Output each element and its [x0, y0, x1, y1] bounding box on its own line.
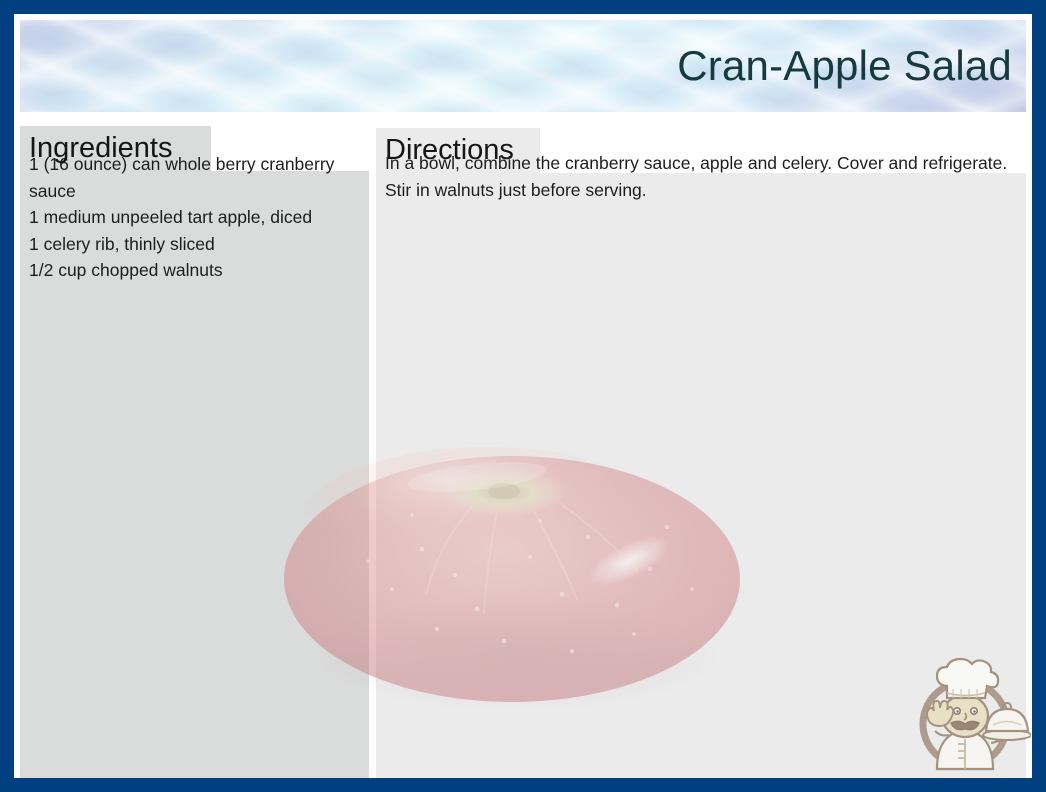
ingredients-panel: Ingredients 1 (16 ounce) can whole berry… — [20, 126, 369, 778]
recipe-slide: Cran-Apple Salad Ingredients 1 (16 ounce… — [0, 0, 1046, 792]
directions-panel: Directions In a bowl, combine the cranbe… — [376, 128, 1026, 778]
slide-content-area: Cran-Apple Salad Ingredients 1 (16 ounce… — [14, 14, 1032, 778]
ingredients-list: 1 (16 ounce) can whole berry cranberry s… — [29, 151, 349, 284]
directions-text: In a bowl, combine the cranberry sauce, … — [385, 150, 1010, 203]
title-banner: Cran-Apple Salad — [20, 20, 1026, 112]
slide-title: Cran-Apple Salad — [677, 42, 1012, 90]
directions-panel-body — [376, 173, 1026, 778]
